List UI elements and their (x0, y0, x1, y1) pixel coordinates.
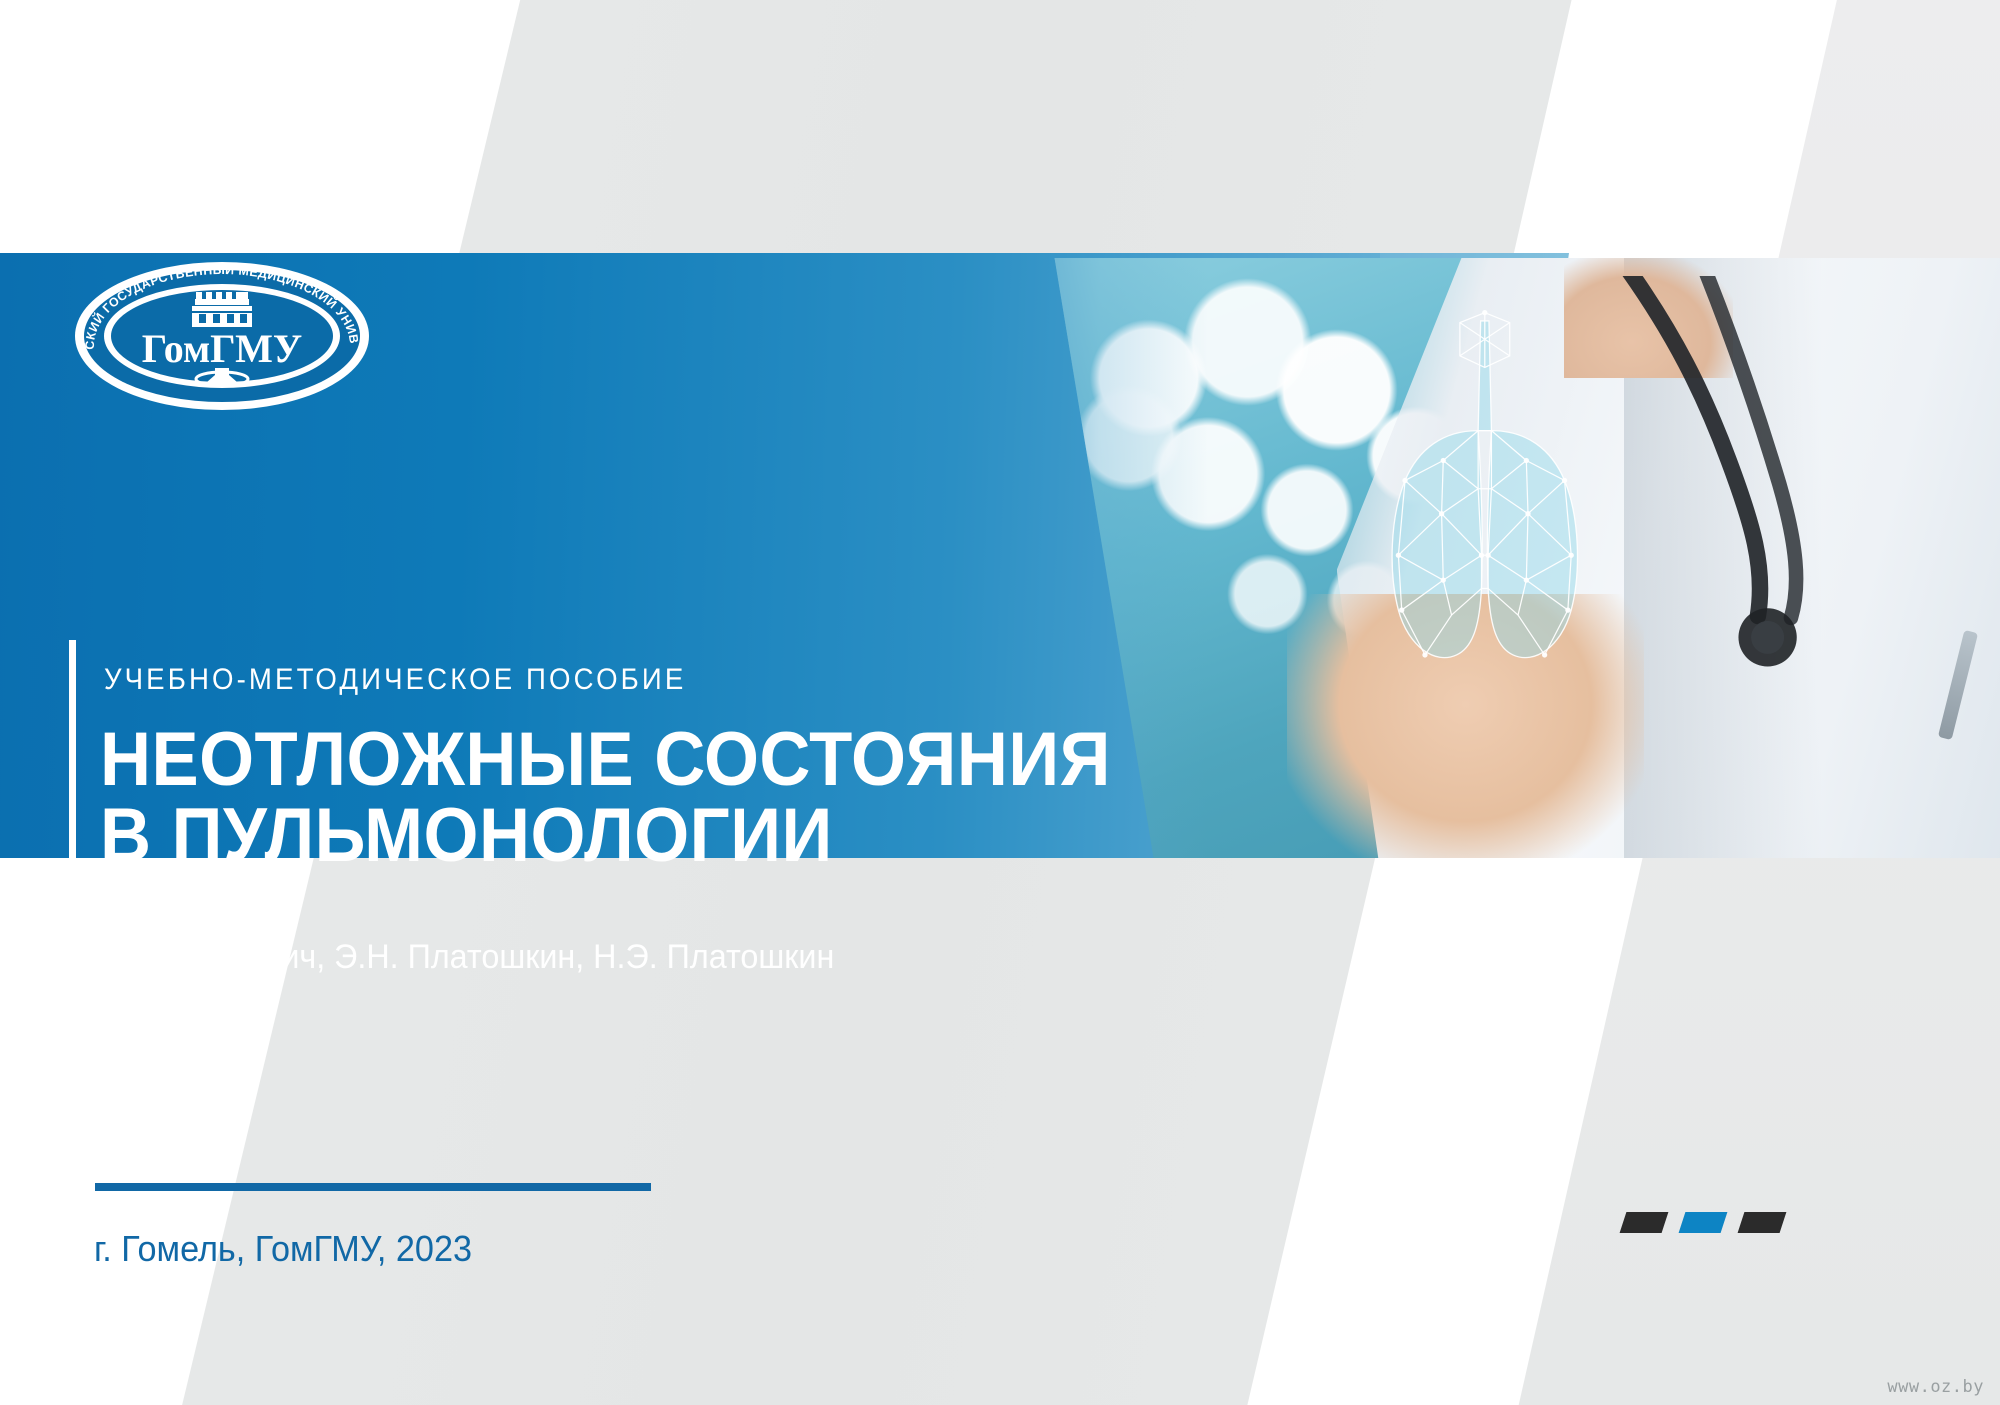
dash-1 (1620, 1212, 1669, 1233)
logo-acronym: ГомГМУ (142, 326, 302, 371)
photo-bokeh-background (1010, 258, 2000, 858)
photo-left-fade (1010, 258, 2000, 858)
watermark: www.oz.by (1887, 1377, 1984, 1397)
title-accent-bar (69, 640, 76, 1025)
dash-2 (1679, 1212, 1728, 1233)
cover-authors: И.В. Буйневич, Э.Н. Платошкин, Н.Э. Плат… (102, 938, 834, 977)
cover-photo (1010, 258, 2000, 858)
page-title: НЕОТЛОЖНЫЕ СОСТОЯНИЯ В ПУЛЬМОНОЛОГИИ (100, 722, 1111, 874)
bottom-rule (95, 1183, 651, 1191)
university-building-icon (192, 292, 252, 327)
university-logo: ГОМЕЛЬСКИЙ ГОСУДАРСТВЕННЫЙ МЕДИЦИНСКИЙ У… (72, 258, 372, 414)
book-cover: ГОМЕЛЬСКИЙ ГОСУДАРСТВЕННЫЙ МЕДИЦИНСКИЙ У… (0, 0, 2000, 1405)
cover-kicker: УЧЕБНО-МЕТОДИЧЕСКОЕ ПОСОБИЕ (104, 663, 686, 697)
decorative-dashes (1623, 1212, 1783, 1233)
dash-3 (1738, 1212, 1787, 1233)
cover-imprint: г. Гомель, ГомГМУ, 2023 (94, 1228, 472, 1270)
